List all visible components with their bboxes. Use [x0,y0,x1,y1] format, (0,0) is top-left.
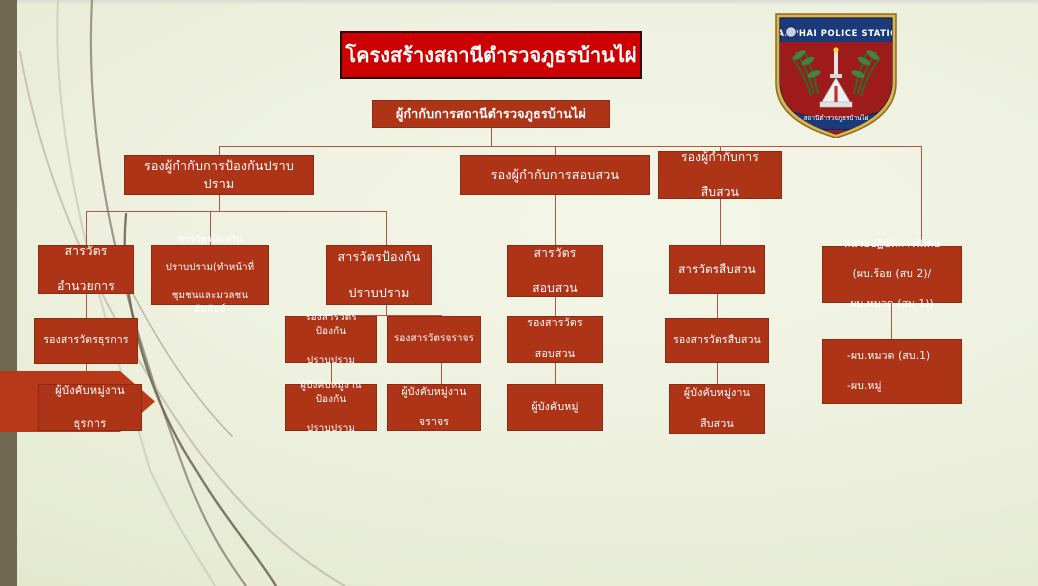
connector [86,211,386,212]
connector [921,146,922,246]
connector [86,294,87,318]
node-squad-investigation[interactable]: ผู้บังคับหมู่ [507,384,603,431]
page-title: โครงสร้างสถานีตำรวจภูธรบ้านไผ่ [340,31,642,79]
node-squad-prevention[interactable]: ผู้บังคับหมู่งานป้องกัน ปราบปราม [285,384,377,431]
node-admin-inspector[interactable]: สารวัตร อำนวยการ [38,245,134,294]
node-deputy-prevention-inspector[interactable]: รองสารวัตรป้องกัน ปราบปราม [285,316,377,363]
node-station-superintendent[interactable]: ผู้กำกับการสถานีตำรวจภูธรบ้านไผ่ [372,100,610,128]
node-squad-inquiry[interactable]: ผู้บังคับหมู่งาน สืบสวน [669,384,765,434]
connector [441,363,442,384]
node-investigation-inspector[interactable]: สารวัตร สอบสวน [507,245,603,297]
badge-ribbon-text: สถานีตำรวจภูธรบ้านไผ่ [804,114,869,122]
connector [86,211,87,245]
node-special-operations-unit[interactable]: หน่วยปฏิบัติการพิเศษ (ผบ.ร้อย (สบ 2)/ ผบ… [822,246,962,303]
connector [219,146,922,147]
page-title-text: โครงสร้างสถานีตำรวจภูธรบ้านไผ่ [345,39,636,71]
node-deputy-investigation[interactable]: รองผู้กำกับการสอบสวน [460,155,650,195]
connector [555,363,556,384]
node-deputy-investigation-inspector[interactable]: รองสารวัตร สอบสวน [507,316,603,363]
connector [717,294,718,318]
node-squad-admin[interactable]: ผู้บังคับหมู่งาน ธุรการ [38,384,142,431]
connector [386,305,387,315]
org-chart-canvas: โครงสร้างสถานีตำรวจภูธรบ้านไผ่ BANPHAI P… [0,0,1038,586]
node-prevention-inspector[interactable]: สารวัตรป้องกัน ปราบปราม [326,245,432,305]
connector [386,211,387,245]
node-deputy-prevention[interactable]: รองผู้กำกับการป้องกันปราบปราม [124,155,314,195]
node-deputy-inquiry-inspector[interactable]: รองสารวัตรสืบสวน [665,318,769,363]
node-special-unit-positions[interactable]: -ผบ.หมวด (สบ.1) -ผบ.หมู่ [822,339,962,404]
connector [491,128,492,146]
node-deputy-admin-inspector[interactable]: รองสารวัตรธุรการ [34,318,138,364]
connector [555,195,556,245]
connector [555,297,556,316]
node-community-relations-inspector[interactable]: สารวัตรป้องกัน ปราบปราม(ทำหน้าที่ ชุมชนแ… [151,245,269,305]
node-inquiry-inspector[interactable]: สารวัตรสืบสวน [669,245,765,294]
top-decorative-strip [17,0,1038,4]
connector [219,195,220,211]
node-squad-traffic[interactable]: ผู้บังคับหมู่งาน จราจร [387,384,481,431]
node-deputy-traffic-inspector[interactable]: รองสารวัตรจราจร [387,316,481,363]
connector [720,199,721,245]
banphai-police-station-badge: BANPHAI POLICE STATION [770,8,902,138]
node-deputy-inquiry[interactable]: รองผู้กำกับการ สืบสวน [658,151,782,199]
left-decorative-band [0,0,17,586]
connector [717,363,718,384]
